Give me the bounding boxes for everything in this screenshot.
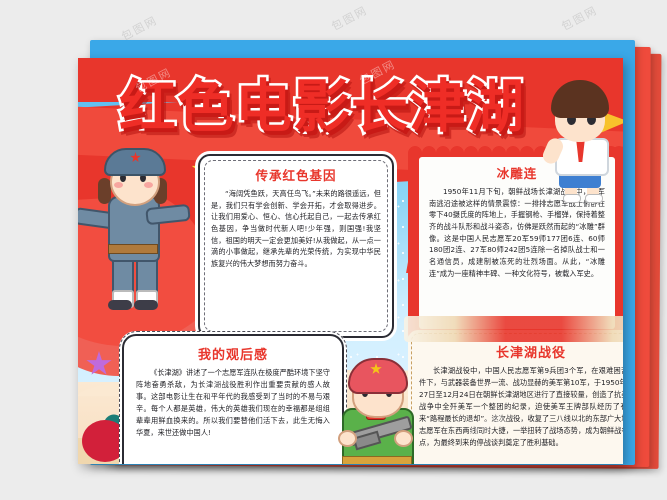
panel-heritage-body: “海阔凭鱼跃，天高任鸟飞。”未来的路很遥远，但是，我们只有学会创新、学会开拓，才… — [211, 188, 381, 270]
panel-battle-heading: 长津湖战役 — [408, 342, 623, 361]
panel-battle: 长津湖战役 长津湖战役中，中国人民志愿军第9兵团3个军，在艰难困苦的条件下，与武… — [408, 330, 623, 464]
panel-battle-body: 长津湖战役中，中国人民志愿军第9兵团3个军，在艰难困苦的条件下，与武器装备世界一… — [419, 365, 623, 449]
panel-review-heading: 我的观后感 — [124, 344, 342, 363]
decorative-ribbon — [404, 316, 623, 342]
character-school-boy — [545, 80, 617, 200]
panel-review: 我的观后感 《长津湖》讲述了一个志愿军连队在极度严酷环境下坚守阵地奋勇杀敌，为长… — [122, 334, 344, 464]
army-cap-icon — [104, 148, 166, 176]
page-title: 红色电影长津湖 — [92, 72, 552, 142]
page-title-text: 红色电影长津湖 — [119, 79, 525, 136]
panel-review-body: 《长津湖》讲述了一个志愿军连队在极度严酷环境下坚守阵地奋勇杀敌，为长津湖战役胜利… — [136, 367, 330, 439]
panel-heritage: 传承红色基因 “海阔凭鱼跃，天高任鸟飞。”未来的路很遥远，但是，我们只有学会创新… — [198, 154, 394, 338]
character-girl-soldier — [86, 144, 181, 309]
panel-heritage-heading: 传承红色基因 — [200, 165, 392, 184]
army-cap-icon — [348, 358, 408, 394]
poster-canvas: 红色电影长津湖 传承红色基因 “海阔凭鱼跃，天高任鸟飞。”未来的路很遥远，但是，… — [78, 58, 623, 464]
watermark: 包图网 — [559, 2, 601, 34]
watermark: 包图网 — [329, 2, 371, 34]
character-green-soldier — [330, 358, 422, 464]
